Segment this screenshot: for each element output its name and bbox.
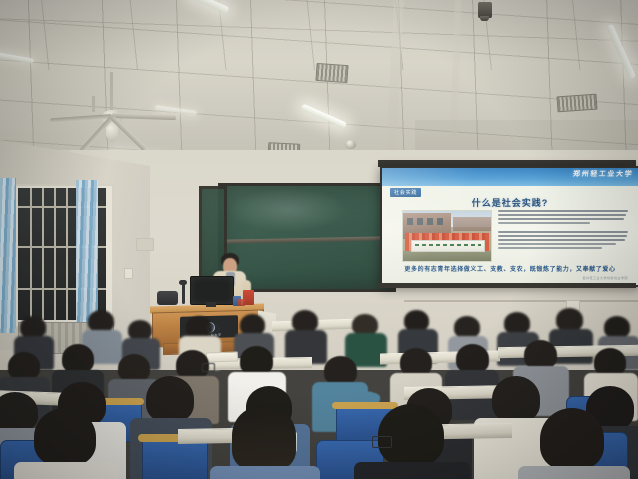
microphone-head bbox=[179, 280, 187, 285]
slide-footer-text: 更多的有志青年选择做义工、支教、支农，既锻炼了能力，又奉献了爱心 bbox=[382, 264, 638, 273]
window-curtain bbox=[76, 180, 98, 332]
dome-camera bbox=[345, 140, 356, 149]
projection-screen: 郑州轻工业大学 社会实践 什么是社会实践? bbox=[380, 166, 638, 287]
slide-credit: 郑州轻工业大学创新创业学院 bbox=[582, 276, 628, 280]
chair-frame bbox=[332, 402, 398, 409]
air-vent bbox=[556, 94, 597, 113]
microphone bbox=[182, 283, 185, 304]
podium-monitor bbox=[190, 276, 234, 305]
window-curtain bbox=[0, 178, 16, 333]
classroom-photo: 郑州轻工业大学 社会实践 什么是社会实践? bbox=[0, 0, 638, 479]
air-vent bbox=[315, 63, 348, 83]
presentation-slide: 郑州轻工业大学 社会实践 什么是社会实践? bbox=[382, 168, 638, 285]
slide-photo bbox=[402, 210, 492, 262]
ceiling-projector bbox=[480, 16, 489, 21]
slide-header-band: 郑州轻工业大学 bbox=[382, 168, 638, 186]
bag bbox=[157, 291, 178, 305]
power-outlet bbox=[124, 268, 133, 279]
red-object bbox=[238, 299, 245, 306]
screen-bottom-bar bbox=[378, 283, 636, 288]
notebook bbox=[206, 351, 238, 362]
university-name: 郑州轻工业大学 bbox=[572, 169, 633, 179]
monitor-stand bbox=[206, 302, 216, 307]
chalkboard-glare bbox=[228, 188, 348, 232]
wall-sign bbox=[136, 238, 154, 251]
slide-body-text bbox=[498, 210, 630, 251]
eyeglasses bbox=[372, 436, 392, 448]
slide-title: 什么是社会实践? bbox=[382, 196, 638, 209]
slide-photo-banner bbox=[411, 240, 485, 252]
